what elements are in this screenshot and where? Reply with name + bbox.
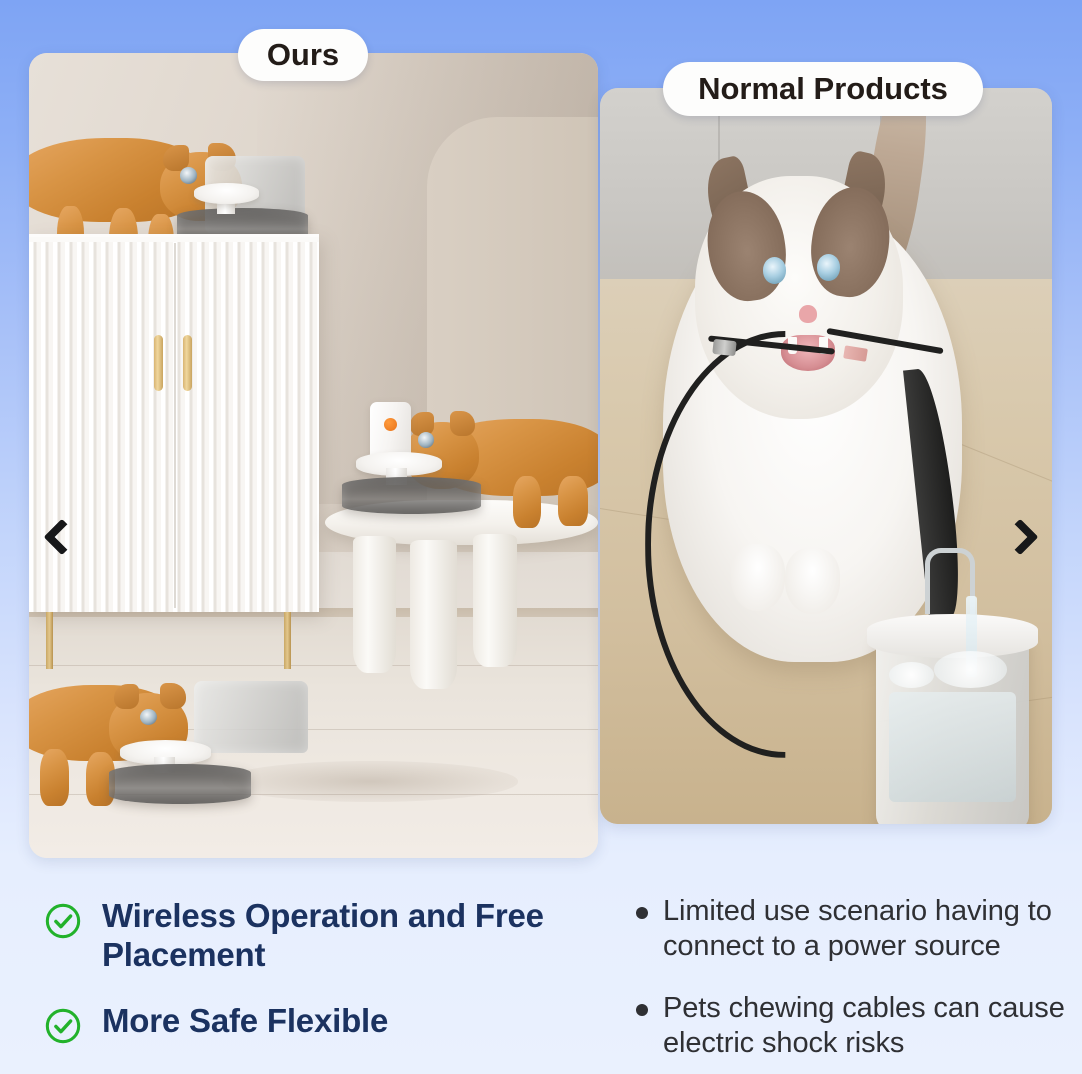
carousel-prev-button[interactable] <box>36 514 82 560</box>
con-item: Pets chewing cables can cause electric s… <box>636 991 1082 1062</box>
floor-seam <box>29 665 598 666</box>
fountain-indicator-light-mid <box>384 418 397 431</box>
chevron-left-icon <box>43 519 80 556</box>
fountain-tank-bottom <box>194 681 308 753</box>
table-leg-1 <box>353 536 396 673</box>
pro-item: Wireless Operation and Free Placement <box>44 896 590 975</box>
water-foam <box>889 662 934 688</box>
table-leg-2 <box>410 540 457 689</box>
fountain-base-bottom <box>109 764 251 804</box>
cat-leg-bottom-1 <box>40 749 68 805</box>
corded-fountain-water <box>889 692 1016 802</box>
pros-column: Wireless Operation and Free Placement Mo… <box>0 884 590 1074</box>
con-text: Pets chewing cables can cause electric s… <box>663 991 1082 1062</box>
ragdoll-eye-right <box>817 254 841 280</box>
cons-column: Limited use scenario having to connect t… <box>590 884 1082 1074</box>
corded-fountain-lid <box>867 614 1039 658</box>
cat-leg-mid-2 <box>558 476 588 526</box>
ragdoll-nose <box>799 305 817 323</box>
cabinet-leg-left <box>46 612 53 668</box>
fountain-bowl-top <box>194 183 259 204</box>
panel-normal-products[interactable] <box>600 88 1052 824</box>
comparison-stage: Ours Normal Products Wireless Operation … <box>0 0 1082 1074</box>
bullet-dot-icon <box>636 907 648 919</box>
pro-item: More Safe Flexible <box>44 1001 590 1045</box>
cabinet-leg-right <box>284 612 291 668</box>
ragdoll-paw-right <box>785 548 839 614</box>
cat-ear-bottom-left <box>114 684 139 709</box>
fountain-base-mid <box>342 477 481 514</box>
con-item: Limited use scenario having to connect t… <box>636 894 1082 965</box>
bullet-dot-icon <box>636 1004 648 1016</box>
panel-ours[interactable] <box>29 53 598 858</box>
badge-ours: Ours <box>238 29 368 81</box>
carousel-next-button[interactable] <box>1000 514 1046 560</box>
check-circle-icon <box>44 902 82 940</box>
table-leg-3 <box>473 534 517 667</box>
ragdoll-eye-left <box>763 257 787 283</box>
water-foam <box>934 651 1006 688</box>
con-text: Limited use scenario having to connect t… <box>663 894 1082 965</box>
cat-leg-mid-1 <box>513 476 541 528</box>
feature-comparison-lists: Wireless Operation and Free Placement Mo… <box>0 884 1082 1074</box>
cabinet-top <box>29 237 319 242</box>
check-circle-icon <box>44 1007 82 1045</box>
cabinet-handle-left[interactable] <box>154 335 163 391</box>
chevron-right-icon <box>1002 519 1039 556</box>
cabinet-handle-right[interactable] <box>183 335 192 391</box>
floor-shadow <box>222 761 518 801</box>
power-cable-connector <box>712 339 736 356</box>
cat-ear-bottom-right <box>160 683 186 709</box>
cat-ear-mid-right <box>450 411 475 436</box>
cabinet-door-gap <box>174 243 176 608</box>
pro-text: More Safe Flexible <box>102 1001 388 1040</box>
pro-text: Wireless Operation and Free Placement <box>102 896 590 975</box>
badge-normal-products: Normal Products <box>663 62 983 116</box>
